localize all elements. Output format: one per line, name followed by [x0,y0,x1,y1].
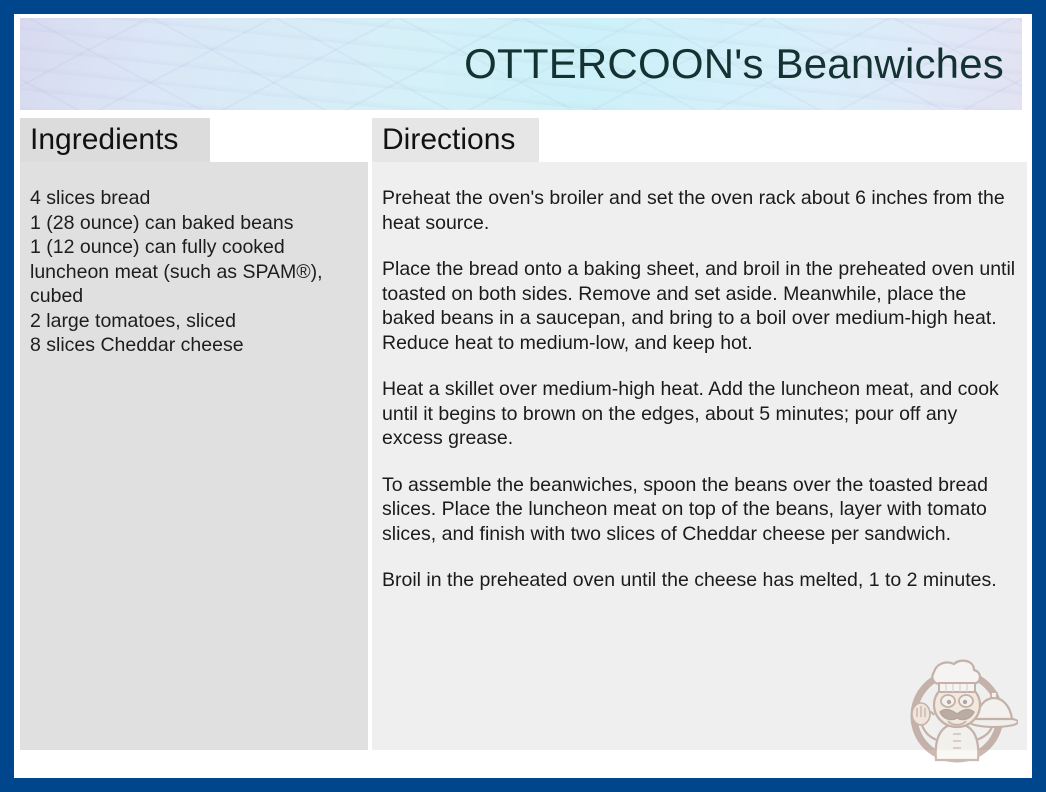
direction-step: Place the bread onto a baking sheet, and… [382,257,1021,355]
directions-steps: Preheat the oven's broiler and set the o… [382,186,1021,593]
direction-step: Preheat the oven's broiler and set the o… [382,186,1021,235]
direction-step: Heat a skillet over medium-high heat. Ad… [382,377,1021,451]
tab-directions-label: Directions [372,125,515,155]
page-title: OTTERCOON's Beanwiches [464,43,1022,85]
direction-step: Broil in the preheated oven until the ch… [382,568,1021,593]
list-item: 2 large tomatoes, sliced [30,309,354,334]
ingredients-list: 4 slices bread 1 (28 ounce) can baked be… [30,186,354,358]
tab-directions[interactable]: Directions [372,118,539,162]
directions-panel: Preheat the oven's broiler and set the o… [372,162,1027,750]
tab-ingredients-label: Ingredients [20,125,178,155]
content-panels: Ingredients 4 slices bread 1 (28 ounce) … [20,118,1022,778]
title-banner: OTTERCOON's Beanwiches [20,18,1022,110]
tab-ingredients[interactable]: Ingredients [20,118,210,162]
list-item: 1 (12 ounce) can fully cooked luncheon m… [30,235,354,309]
list-item: 1 (28 ounce) can baked beans [30,211,354,236]
ingredients-panel: 4 slices bread 1 (28 ounce) can baked be… [20,162,368,750]
list-item: 4 slices bread [30,186,354,211]
recipe-card: OTTERCOON's Beanwiches [0,0,1046,792]
list-item: 8 slices Cheddar cheese [30,333,354,358]
direction-step: To assemble the beanwiches, spoon the be… [382,473,1021,547]
